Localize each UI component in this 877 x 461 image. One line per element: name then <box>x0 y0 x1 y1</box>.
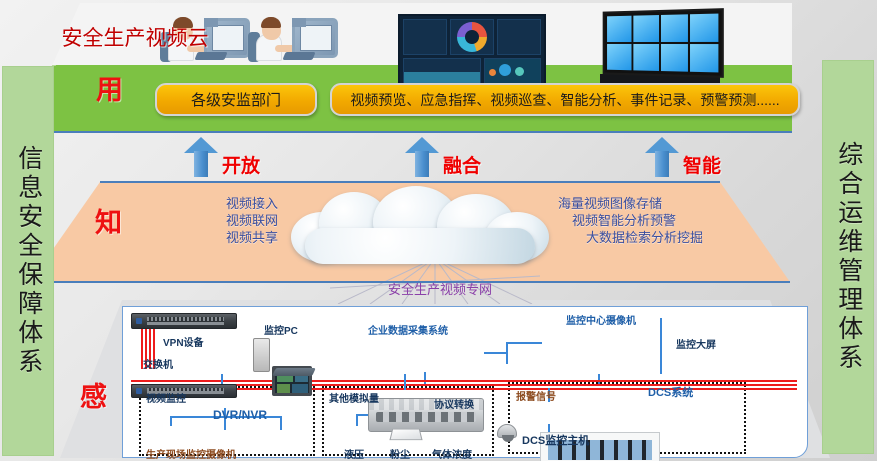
link-sensor-1 <box>356 414 358 426</box>
monitor-pc-label: 监控PC <box>264 322 298 337</box>
sensor-label-dust: 粉尘 <box>390 446 410 461</box>
dust-sensor-icon <box>389 429 422 440</box>
monitor-pc-keyboard-icon <box>272 368 316 376</box>
dept-box[interactable]: 各级安监部门 <box>155 83 317 116</box>
vpn-device-icon <box>131 313 237 329</box>
private-network-label: 安全生产视频专网 <box>355 279 525 298</box>
link-room-bus <box>598 374 600 384</box>
pillar-operations-management: 综合运维管理体系 <box>822 60 874 454</box>
pillar-information-security: 信息安全保障体系 <box>2 66 54 456</box>
cloud-left-item-0: 视频接入 <box>148 195 278 212</box>
stage-label-know: 知 <box>95 201 122 240</box>
dvr-nvr-label: DVR/NVR <box>213 408 267 422</box>
control-center-camera-label: 监控中心摄像机 <box>566 312 636 327</box>
arrow-label-converge: 融合 <box>443 151 481 178</box>
cloud-title: 安全生产视频云 <box>0 22 270 52</box>
cloud-right-item-1: 视频智能分析预警 <box>558 212 758 229</box>
group-dcs-alarm-label: 报警信号 <box>516 388 556 403</box>
bus-red-bottom <box>160 388 797 390</box>
cloud-right-item-2: 大数据检索分析挖掘 <box>558 229 758 246</box>
cloud-left-item-2: 视频共享 <box>148 229 278 246</box>
protocol-converter-label: 协议转换 <box>434 396 474 411</box>
link-server-camera <box>484 352 508 354</box>
pillar-right-text: 综合运维管理体系 <box>833 141 863 373</box>
cloud-left-item-1: 视频联网 <box>148 212 278 229</box>
stage-label-sense: 感 <box>80 375 107 414</box>
dcs-system-label: DCS系统 <box>648 384 693 400</box>
link-camera-right <box>506 342 542 344</box>
dashboard-monitor <box>398 14 546 87</box>
layer-use-underline <box>22 131 792 133</box>
arrow-converge-icon <box>405 137 439 177</box>
arrow-label-open: 开放 <box>222 151 260 178</box>
group-video-caption: 生产现场监控摄像机 <box>146 446 236 461</box>
video-wall <box>603 8 724 78</box>
arrow-open-icon <box>184 137 218 177</box>
cloud-left-capabilities: 视频接入 视频联网 视频共享 <box>148 195 278 246</box>
link-cam-1 <box>170 416 172 426</box>
sensor-label-gas: 气体浓度 <box>432 446 472 461</box>
bus-red-top <box>131 380 797 382</box>
arrow-label-intelligent: 智能 <box>683 151 721 178</box>
pillar-left-text: 信息安全保障体系 <box>13 145 43 377</box>
vpn-device-label: VPN设备 <box>163 334 204 349</box>
enterprise-data-collection-label: 企业数据采集系统 <box>368 322 448 337</box>
layer-know-topline <box>100 181 720 183</box>
link-room-right <box>660 318 662 374</box>
control-center-camera-icon <box>497 424 517 438</box>
link-proto-up <box>404 374 406 390</box>
stage-label-use: 用 <box>96 68 123 107</box>
monitor-pc-tower-icon <box>253 338 270 372</box>
function-box[interactable]: 视频预览、应急指挥、视频巡查、智能分析、事件记录、预警预测...... <box>330 83 800 116</box>
cloud-right-item-0: 海量视频图像存储 <box>558 195 758 212</box>
group-analog-title: 其他模拟量 <box>329 390 379 405</box>
sensor-label-hydraulic: 液压 <box>344 446 364 461</box>
link-cam-3 <box>280 416 282 430</box>
arrow-intelligent-icon <box>645 137 679 177</box>
cloud-right-capabilities: 海量视频图像存储 视频智能分析预警 大数据检索分析挖掘 <box>558 195 758 246</box>
dcs-host-label: DCS监控主机 <box>522 432 589 448</box>
architecture-diagram: 用 知 感 各级安监部门 视频预览、应急指挥、视频巡查、智能分析、事件记录、预警… <box>0 0 877 461</box>
link-server-bus <box>424 372 426 384</box>
switch-label: 交换机 <box>143 356 173 371</box>
monitor-large-screen-label: 监控大屏 <box>676 336 716 351</box>
group-video-title: 视频监控 <box>146 390 186 405</box>
video-cloud-shape <box>285 186 555 266</box>
